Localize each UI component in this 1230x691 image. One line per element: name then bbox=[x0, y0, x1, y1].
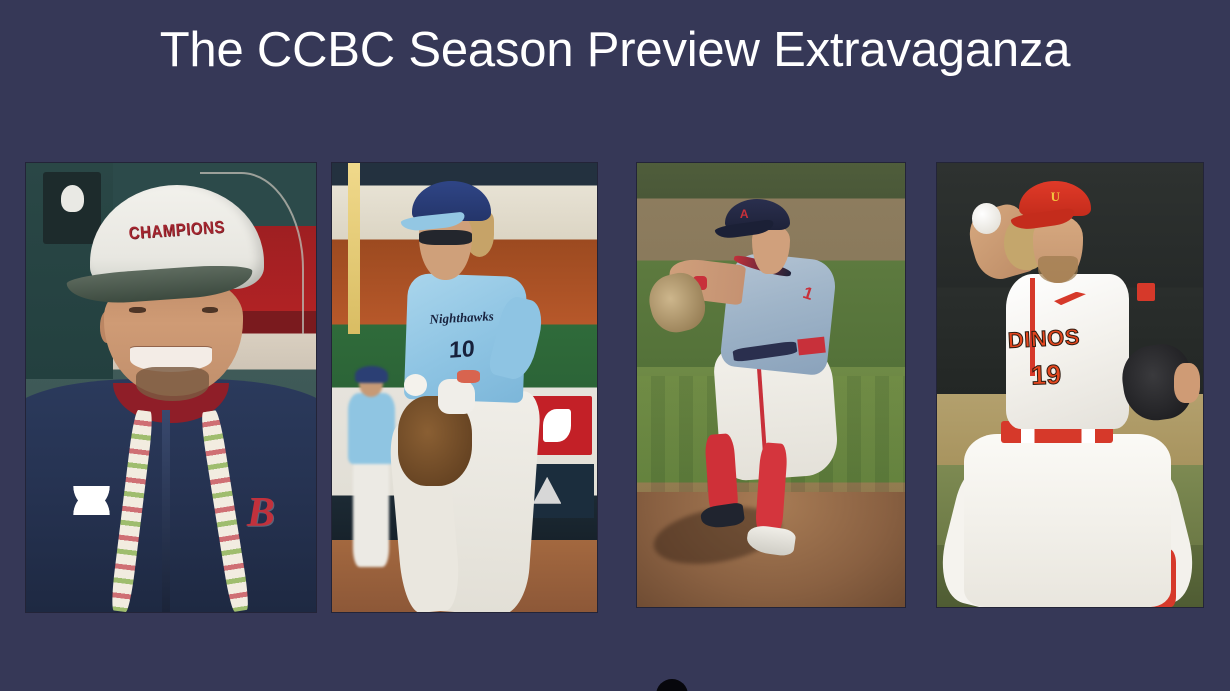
photo-coach-champions[interactable]: B CHAMPIONS bbox=[26, 163, 316, 612]
jersey-number-text: 19 bbox=[1016, 357, 1076, 395]
under-armour-icon bbox=[67, 486, 116, 515]
photo-strip: B CHAMPIONS bbox=[0, 163, 1230, 615]
photo-content: B CHAMPIONS bbox=[26, 163, 316, 612]
cap-logo-text: A bbox=[733, 204, 754, 224]
jersey-number-text: 10 bbox=[438, 332, 487, 367]
goatee bbox=[136, 367, 209, 401]
glove-hand bbox=[1174, 363, 1201, 403]
cap-logo-text: U bbox=[1043, 185, 1067, 207]
jersey-name-text: DINOS bbox=[995, 320, 1092, 356]
photo-pitcher-a[interactable]: 1 A bbox=[637, 163, 905, 607]
belt-red-accent bbox=[797, 337, 825, 355]
foul-pole bbox=[348, 163, 360, 334]
baseball bbox=[972, 203, 1001, 234]
sunglasses-icon bbox=[419, 230, 472, 244]
wall-sign-icon bbox=[43, 172, 101, 244]
background-player-cap bbox=[355, 366, 388, 384]
background-player-legs bbox=[353, 460, 389, 567]
photo-nighthawks-10[interactable]: Nighthawks 10 bbox=[332, 163, 597, 612]
jersey-name-text: Nighthawks bbox=[414, 304, 510, 331]
shoulder-patch bbox=[1137, 283, 1156, 301]
photo-content: Nighthawks 10 bbox=[332, 163, 597, 612]
wristband bbox=[457, 370, 481, 383]
dot-marker[interactable] bbox=[656, 679, 688, 691]
photo-dinos-19[interactable]: DINOS 19 U bbox=[937, 163, 1203, 607]
photo-content: 1 A bbox=[637, 163, 905, 607]
jacket-zipper bbox=[162, 410, 169, 612]
white-pants bbox=[964, 434, 1171, 607]
photo-content: DINOS 19 U bbox=[937, 163, 1203, 607]
batting-glove bbox=[438, 379, 475, 415]
beard bbox=[1038, 256, 1078, 283]
background-player-body bbox=[348, 393, 395, 464]
cap-logo-text: CHAMPIONS bbox=[109, 203, 245, 259]
page-title: The CCBC Season Preview Extravaganza bbox=[0, 20, 1230, 80]
